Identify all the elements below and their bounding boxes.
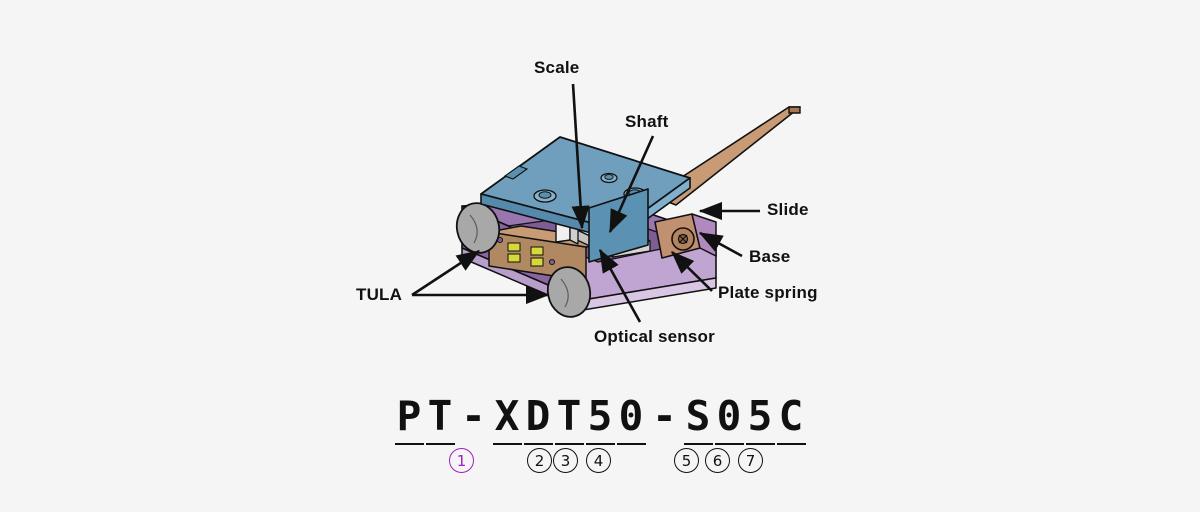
index-marker-7: 7 — [738, 448, 763, 473]
part-number-separator: - — [457, 392, 491, 443]
part-number-group: XDT50 — [492, 392, 647, 445]
index-marker-3: 3 — [553, 448, 578, 473]
index-marker-1: 1 — [449, 448, 474, 473]
index-marker-2: 2 — [527, 448, 552, 473]
part-number-group: S05C — [683, 392, 807, 445]
callout-label-shaft: Shaft — [625, 112, 669, 132]
callout-label-slide: Slide — [767, 200, 809, 220]
part-number-char: T — [426, 392, 455, 445]
part-number-char: X — [493, 392, 522, 445]
part-number-char: C — [777, 392, 806, 445]
part-number-char: 5 — [586, 392, 615, 445]
part-number-char: T — [555, 392, 584, 445]
part-number-string: PT-XDT50-S05C — [394, 392, 807, 445]
index-marker-4: 4 — [586, 448, 611, 473]
part-number-index-row: 1234567 — [0, 448, 1200, 476]
leader-tula-upper — [412, 251, 479, 295]
part-number-block: PT-XDT50-S05C — [0, 392, 1200, 445]
index-marker-5: 5 — [674, 448, 699, 473]
callout-label-base: Base — [749, 247, 790, 267]
part-number-char: 0 — [715, 392, 744, 445]
index-marker-6: 6 — [705, 448, 730, 473]
diagram-page: Scale Shaft Slide Base Plate spring TULA… — [0, 0, 1200, 512]
part-number-group: PT — [394, 392, 456, 445]
callout-label-plate-spring: Plate spring — [718, 283, 818, 303]
part-number-char: 5 — [746, 392, 775, 445]
part-number-char: D — [524, 392, 553, 445]
part-number-separator: - — [648, 392, 682, 443]
part-number-char: P — [395, 392, 424, 445]
callout-label-tula: TULA — [356, 285, 402, 305]
callout-label-optical-sensor: Optical sensor — [594, 327, 715, 347]
part-number-char: S — [684, 392, 713, 445]
part-number-char: 0 — [617, 392, 646, 445]
callout-label-scale: Scale — [534, 58, 579, 78]
